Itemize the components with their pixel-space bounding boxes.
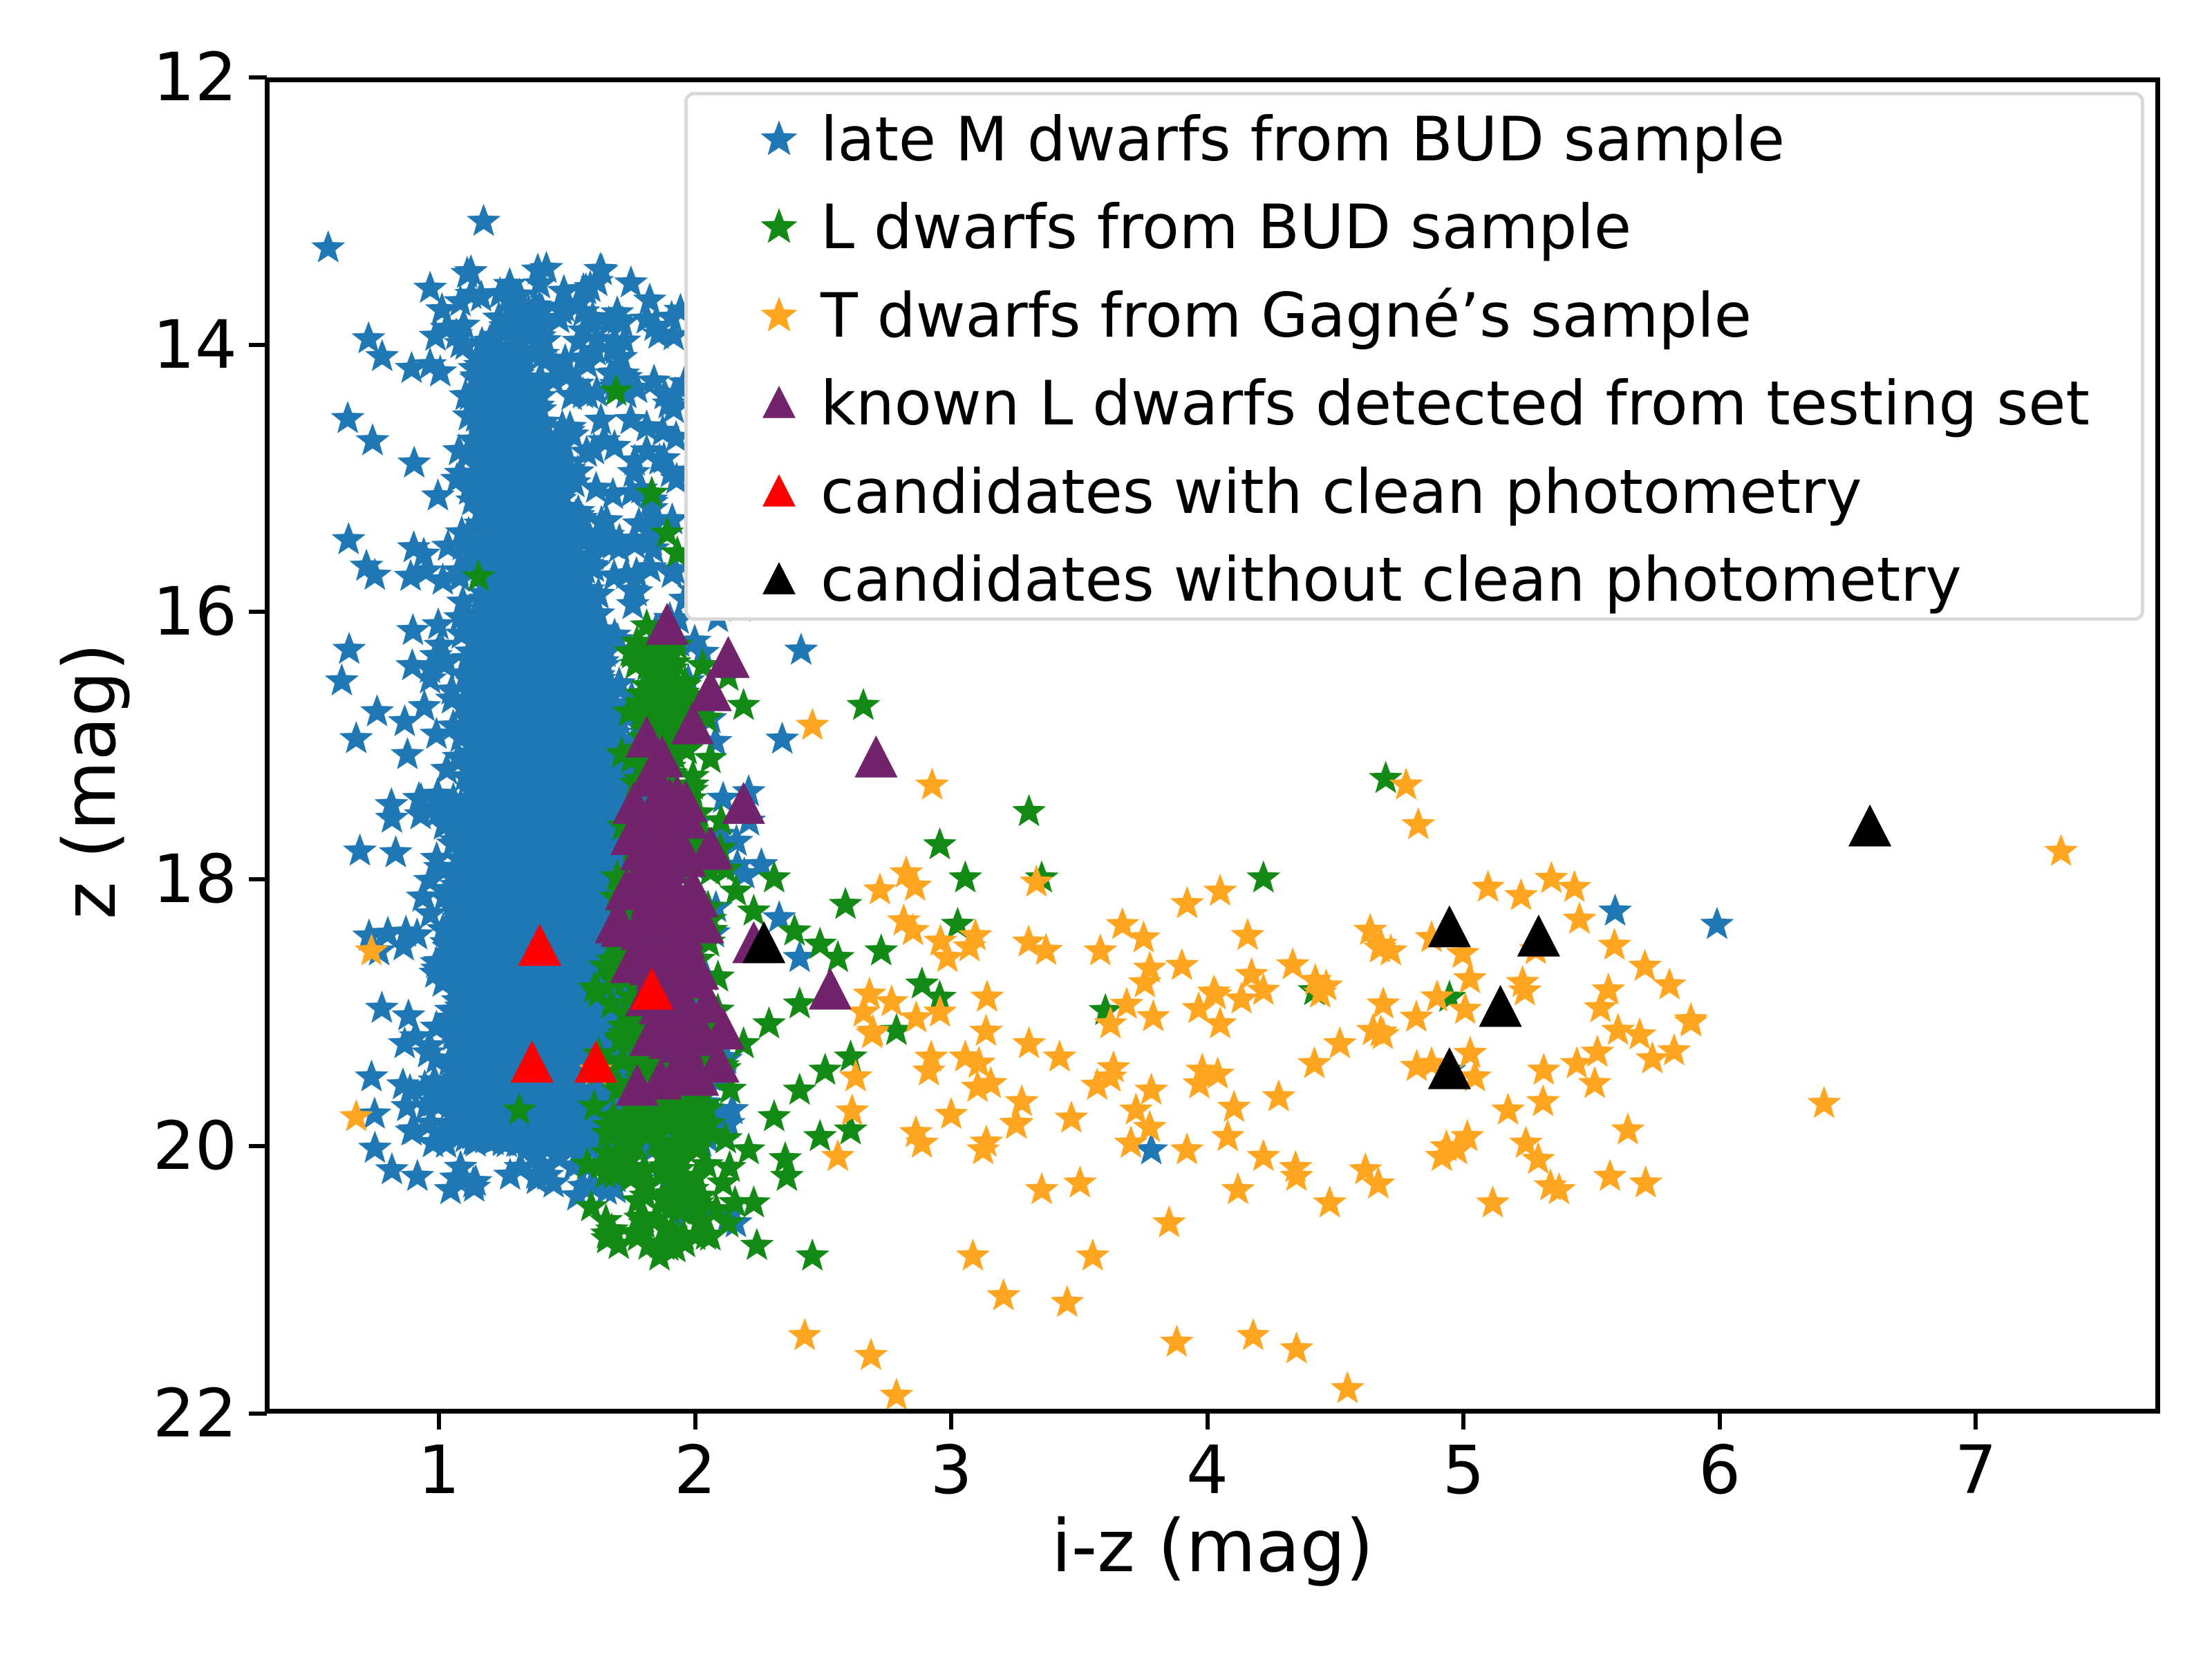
y-tick-label: 20 bbox=[37, 1113, 237, 1179]
x-axis-label: i-z (mag) bbox=[265, 1510, 2160, 1582]
x-tick-mark bbox=[1718, 1412, 1722, 1430]
figure-canvas: z (mag) i-z (mag) 1234567121416182022 la… bbox=[0, 0, 2212, 1659]
x-tick-mark bbox=[949, 1412, 953, 1430]
x-tick-mark bbox=[437, 1412, 441, 1430]
y-tick-label: 12 bbox=[37, 44, 237, 111]
x-tick-mark bbox=[1206, 1412, 1210, 1430]
x-tick-label: 3 bbox=[930, 1437, 973, 1503]
y-tick-label: 18 bbox=[37, 846, 237, 912]
y-tick-label: 14 bbox=[37, 312, 237, 378]
x-tick-label: 2 bbox=[674, 1437, 716, 1503]
x-tick-mark bbox=[1461, 1412, 1465, 1430]
y-tick-label: 16 bbox=[37, 579, 237, 645]
x-tick-label: 5 bbox=[1443, 1437, 1485, 1503]
x-tick-label: 4 bbox=[1186, 1437, 1228, 1503]
y-tick-label: 22 bbox=[37, 1380, 237, 1447]
x-tick-label: 6 bbox=[1698, 1437, 1741, 1503]
x-tick-label: 7 bbox=[1955, 1437, 1997, 1503]
x-tick-mark bbox=[693, 1412, 697, 1430]
x-tick-mark bbox=[1974, 1412, 1978, 1430]
x-tick-label: 1 bbox=[418, 1437, 460, 1503]
